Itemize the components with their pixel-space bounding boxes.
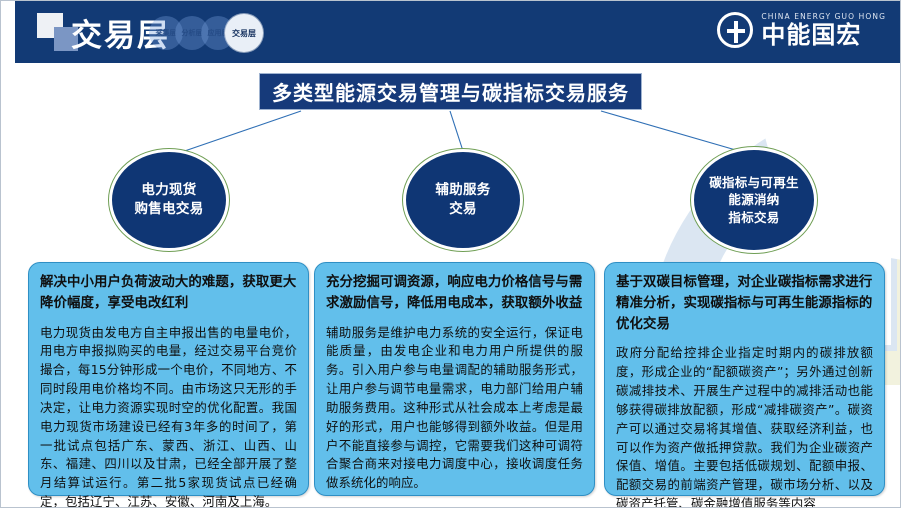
slide-canvas: 交易层 采集层 分析层 应用层 交易层 CHINA ENERGY GUO HON… xyxy=(0,0,901,508)
company-logo: CHINA ENERGY GUO HONG 中能国宏 xyxy=(717,12,886,48)
card-spot-power-trading: 解决中小用户负荷波动大的难题，获取更大降价幅度，享受电改红利 电力现货由发电方自… xyxy=(28,262,309,496)
pill-label: 采集层 xyxy=(156,28,177,38)
node-line-1: 碳指标与可再生 xyxy=(709,175,799,190)
card-ancillary-services: 充分挖掘可调资源，响应电力价格信号与需求激励信号，降低用电成本，获取额外收益 辅… xyxy=(314,262,595,496)
node-label: 碳指标与可再生 能源消纳 指标交易 xyxy=(709,174,799,226)
node-carbon-renewable-index[interactable]: 碳指标与可再生 能源消纳 指标交易 xyxy=(691,147,817,253)
guohong-mark-icon xyxy=(717,12,753,48)
brand-text-block: CHINA ENERGY GUO HONG 中能国宏 xyxy=(761,13,886,48)
diagram-title-box: 多类型能源交易管理与碳指标交易服务 xyxy=(259,73,642,110)
brand-name-cn: 中能国宏 xyxy=(761,23,886,47)
diagram-title-text: 多类型能源交易管理与碳指标交易服务 xyxy=(272,77,629,106)
diagram-stage: 多类型能源交易管理与碳指标交易服务 电力现货 购售电交易 辅助服务 交易 碳指标… xyxy=(1,63,901,508)
node-line-2: 购售电交易 xyxy=(135,201,204,217)
header-left-margin xyxy=(1,1,15,63)
card-heading: 解决中小用户负荷波动大的难题，获取更大降价幅度，享受电改红利 xyxy=(40,273,297,315)
node-line-3: 指标交易 xyxy=(728,210,779,225)
node-ancillary-services[interactable]: 辅助服务 交易 xyxy=(403,149,523,251)
node-line-1: 电力现货 xyxy=(141,182,196,198)
card-heading: 充分挖掘可调资源，响应电力价格信号与需求激励信号，降低用电成本，获取额外收益 xyxy=(326,273,583,315)
pill-trading-layer-active[interactable]: 交易层 xyxy=(225,14,263,52)
card-heading: 基于双碳目标管理，对企业碳指标需求进行精准分析，实现碳指标与可再生能源指标的优化… xyxy=(616,273,873,335)
node-line-2: 能源消纳 xyxy=(728,192,779,207)
pill-label: 交易层 xyxy=(232,28,256,39)
card-body-text: 电力现货由发电方自主申报出售的电量电价，用电方申报拟购买的电量，经过交易平台竞价… xyxy=(40,324,297,508)
node-label: 电力现货 购售电交易 xyxy=(135,181,204,218)
brand-name-en: CHINA ENERGY GUO HONG xyxy=(761,13,886,21)
node-spot-power-trading[interactable]: 电力现货 购售电交易 xyxy=(109,149,229,251)
node-label: 辅助服务 交易 xyxy=(435,181,490,218)
card-body-text: 辅助服务是维护电力系统的安全运行，保证电能质量，由发电企业和电力用户所提供的服务… xyxy=(326,324,583,494)
node-line-2: 交易 xyxy=(449,201,477,217)
top-header-bar: 交易层 采集层 分析层 应用层 交易层 CHINA ENERGY GUO HON… xyxy=(1,1,901,63)
card-body-text: 政府分配给控排企业指定时期内的碳排放额度，形成企业的“配额碳资产”；另外通过创新… xyxy=(616,344,873,508)
pill-label: 分析层 xyxy=(182,28,203,38)
node-line-1: 辅助服务 xyxy=(435,182,490,198)
card-carbon-renewable-index: 基于双碳目标管理，对企业碳指标需求进行精准分析，实现碳指标与可再生能源指标的优化… xyxy=(604,262,885,496)
